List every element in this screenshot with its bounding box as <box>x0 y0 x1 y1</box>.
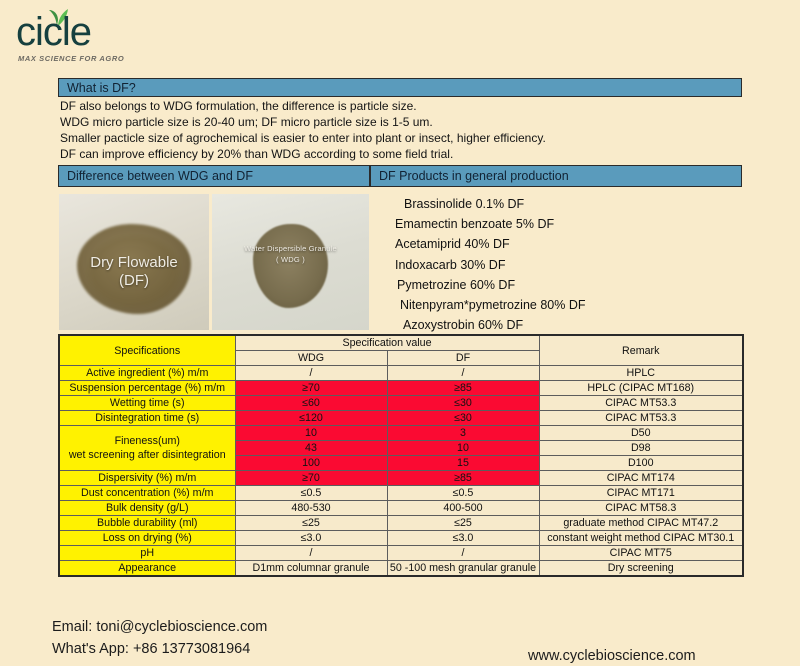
row-df: 400-500 <box>387 501 539 516</box>
row-remark: D98 <box>539 441 743 456</box>
df-photo-caption-line2: (DF) <box>59 272 209 290</box>
wdg-photo-caption-line2: ( WDG ) <box>212 254 369 265</box>
header-df: DF <box>387 351 539 366</box>
row-df: / <box>387 546 539 561</box>
header-remark: Remark <box>539 335 743 366</box>
contact-email: Email: toni@cyclebioscience.com <box>52 616 267 638</box>
table-row: Appearance D1mm columnar granule 50 -100… <box>59 561 743 577</box>
header-specifications: Specifications <box>59 335 235 366</box>
specification-table: Specifications Specification value Remar… <box>58 334 744 577</box>
table-row: Suspension percentage (%) m/m ≥70 ≥85 HP… <box>59 381 743 396</box>
list-item: Azoxystrobin 60% DF <box>390 315 740 335</box>
intro-line-1: DF also belongs to WDG formulation, the … <box>60 99 750 114</box>
table-row: pH / / CIPAC MT75 <box>59 546 743 561</box>
row-spec-fineness: Fineness(um) wet screening after disinte… <box>59 426 235 471</box>
row-df: 3 <box>387 426 539 441</box>
row-remark: CIPAC MT171 <box>539 486 743 501</box>
list-item: Nitenpyram*pymetrozine 80% DF <box>390 295 740 315</box>
table-row: Wetting time (s) ≤60 ≤30 CIPAC MT53.3 <box>59 396 743 411</box>
fineness-label-line2: wet screening after disintegration <box>62 448 233 462</box>
row-spec: Bubble durability (ml) <box>59 516 235 531</box>
comparison-photos: Dry Flowable (DF) Water Dispersible Gran… <box>59 194 369 330</box>
table-row: Disintegration time (s) ≤120 ≤30 CIPAC M… <box>59 411 743 426</box>
row-spec: Suspension percentage (%) m/m <box>59 381 235 396</box>
row-remark: D100 <box>539 456 743 471</box>
header-wdg: WDG <box>235 351 387 366</box>
df-photo-caption-line1: Dry Flowable <box>59 254 209 272</box>
row-remark: CIPAC MT53.3 <box>539 411 743 426</box>
list-item: Acetamiprid 40% DF <box>390 234 740 254</box>
row-spec: Appearance <box>59 561 235 577</box>
what-is-df-body: DF also belongs to WDG formulation, the … <box>60 99 750 163</box>
products-title: DF Products in general production <box>379 169 569 183</box>
row-df: ≥85 <box>387 471 539 486</box>
row-wdg: / <box>235 366 387 381</box>
brand-name: cicle <box>16 12 91 52</box>
row-wdg: ≤0.5 <box>235 486 387 501</box>
intro-line-4: DF can improve efficiency by 20% than WD… <box>60 147 750 162</box>
brand-tagline: MAX SCIENCE FOR AGRO <box>18 54 124 63</box>
df-photo-caption: Dry Flowable (DF) <box>59 254 209 290</box>
row-spec: Disintegration time (s) <box>59 411 235 426</box>
table-row: Fineness(um) wet screening after disinte… <box>59 426 743 441</box>
contact-info: Email: toni@cyclebioscience.com What's A… <box>52 616 267 660</box>
row-spec: pH <box>59 546 235 561</box>
brand-logo: cicle MAX SCIENCE FOR AGRO <box>10 4 190 62</box>
table-header-row-1: Specifications Specification value Remar… <box>59 335 743 351</box>
row-wdg: ≤120 <box>235 411 387 426</box>
list-item: Pymetrozine 60% DF <box>390 275 740 295</box>
row-df: ≤30 <box>387 411 539 426</box>
row-wdg: ≤3.0 <box>235 531 387 546</box>
row-df: ≤3.0 <box>387 531 539 546</box>
list-item: Emamectin benzoate 5% DF <box>390 214 740 234</box>
section-header-products: DF Products in general production <box>370 165 742 187</box>
df-powder-photo: Dry Flowable (DF) <box>59 194 209 330</box>
row-df: 10 <box>387 441 539 456</box>
contact-website: www.cyclebioscience.com <box>528 648 696 664</box>
intro-line-3: Smaller pacticle size of agrochemical is… <box>60 131 750 146</box>
intro-line-2: WDG micro particle size is 20-40 um; DF … <box>60 115 750 130</box>
row-df: 50 -100 mesh granular granule <box>387 561 539 577</box>
row-spec: Dispersivity (%) m/m <box>59 471 235 486</box>
row-remark: HPLC <box>539 366 743 381</box>
row-remark: HPLC (CIPAC MT168) <box>539 381 743 396</box>
row-remark: CIPAC MT75 <box>539 546 743 561</box>
table-row: Bulk density (g/L) 480-530 400-500 CIPAC… <box>59 501 743 516</box>
row-spec: Wetting time (s) <box>59 396 235 411</box>
row-remark: Dry screening <box>539 561 743 577</box>
row-remark: constant weight method CIPAC MT30.1 <box>539 531 743 546</box>
row-remark: CIPAC MT58.3 <box>539 501 743 516</box>
table-row: Bubble durability (ml) ≤25 ≤25 graduate … <box>59 516 743 531</box>
row-wdg: 100 <box>235 456 387 471</box>
what-is-df-title: What is DF? <box>67 81 136 95</box>
row-df: ≥85 <box>387 381 539 396</box>
row-df: ≤25 <box>387 516 539 531</box>
row-remark: CIPAC MT174 <box>539 471 743 486</box>
table-row: Active ingredient (%) m/m / / HPLC <box>59 366 743 381</box>
difference-title: Difference between WDG and DF <box>67 169 253 183</box>
row-remark: graduate method CIPAC MT47.2 <box>539 516 743 531</box>
table-row: Loss on drying (%) ≤3.0 ≤3.0 constant we… <box>59 531 743 546</box>
row-wdg: 43 <box>235 441 387 456</box>
row-wdg: 10 <box>235 426 387 441</box>
product-list: Brassinolide 0.1% DF Emamectin benzoate … <box>390 194 740 335</box>
wdg-granule-photo: Water Dispersible Granule ( WDG ) <box>212 194 369 330</box>
row-df: ≤0.5 <box>387 486 539 501</box>
row-spec: Active ingredient (%) m/m <box>59 366 235 381</box>
row-wdg: D1mm columnar granule <box>235 561 387 577</box>
table-row: Dust concentration (%) m/m ≤0.5 ≤0.5 CIP… <box>59 486 743 501</box>
row-wdg: ≤25 <box>235 516 387 531</box>
wdg-photo-caption: Water Dispersible Granule ( WDG ) <box>212 243 369 265</box>
list-item: Brassinolide 0.1% DF <box>390 194 740 214</box>
row-df: 15 <box>387 456 539 471</box>
section-header-difference: Difference between WDG and DF <box>58 165 370 187</box>
row-wdg: ≥70 <box>235 471 387 486</box>
section-header-what-is-df: What is DF? <box>58 78 742 97</box>
wdg-photo-caption-line1: Water Dispersible Granule <box>212 243 369 254</box>
row-remark: D50 <box>539 426 743 441</box>
row-wdg: / <box>235 546 387 561</box>
list-item: Indoxacarb 30% DF <box>390 255 740 275</box>
row-spec: Bulk density (g/L) <box>59 501 235 516</box>
row-df: ≤30 <box>387 396 539 411</box>
row-df: / <box>387 366 539 381</box>
row-wdg: 480-530 <box>235 501 387 516</box>
row-remark: CIPAC MT53.3 <box>539 396 743 411</box>
row-wdg: ≥70 <box>235 381 387 396</box>
row-spec: Loss on drying (%) <box>59 531 235 546</box>
row-spec: Dust concentration (%) m/m <box>59 486 235 501</box>
contact-whatsapp: What's App: +86 13773081964 <box>52 638 267 660</box>
fineness-label-line1: Fineness(um) <box>62 434 233 448</box>
header-specification-value: Specification value <box>235 335 539 351</box>
row-wdg: ≤60 <box>235 396 387 411</box>
table-row: Dispersivity (%) m/m ≥70 ≥85 CIPAC MT174 <box>59 471 743 486</box>
